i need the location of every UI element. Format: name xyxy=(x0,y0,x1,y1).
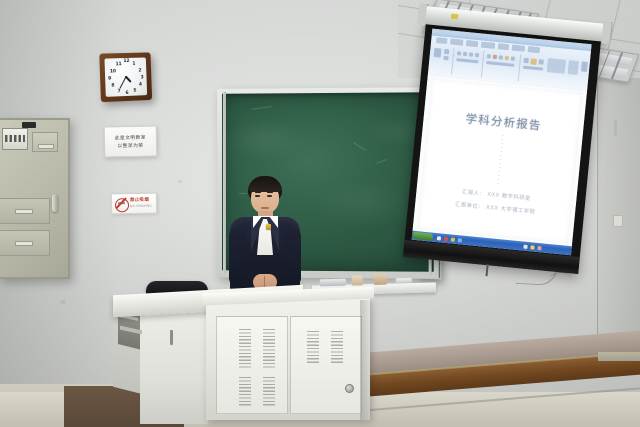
chalk-box[interactable] xyxy=(374,274,387,285)
desk-door-handle[interactable] xyxy=(170,330,173,345)
framed-wall-sign: 此是文明教室 以整潔为荣 xyxy=(104,125,158,157)
taskbar-icon[interactable] xyxy=(444,236,448,240)
eye xyxy=(255,195,260,197)
panel-sub-door[interactable] xyxy=(32,132,58,152)
side-desk[interactable] xyxy=(140,306,208,424)
panel-label xyxy=(15,209,33,214)
chalk-eraser[interactable] xyxy=(320,279,346,287)
arm xyxy=(284,228,301,286)
ventilation-slots xyxy=(239,329,251,369)
hand-crease xyxy=(264,276,265,287)
start-button[interactable] xyxy=(413,232,434,241)
lectern-shadow xyxy=(360,300,374,420)
electric-meter-window xyxy=(2,128,28,150)
slide-canvas: 学科分析报告 汇报人： XXX 教学科研室 汇报单位： XXX 大学理工学院 xyxy=(413,75,587,246)
slide-title: 学科分析报告 xyxy=(427,107,580,138)
panel-breaker-row[interactable] xyxy=(0,198,50,224)
system-tray-icon[interactable] xyxy=(537,245,541,249)
clock-face: 12 1 2 3 4 5 6 7 8 9 10 11 xyxy=(104,57,147,96)
classroom-photo: 学科分析报告 汇报人： XXX 教学科研室 汇报单位： XXX 大学理工学院 xyxy=(0,0,640,427)
taskbar-icon[interactable] xyxy=(437,236,441,240)
shirt-collar xyxy=(253,216,262,228)
meter-digits xyxy=(5,135,25,142)
ventilation-slots xyxy=(263,329,275,369)
taskbar-icon[interactable] xyxy=(451,237,455,241)
wall-scuff xyxy=(614,120,617,136)
slide-content: 学科分析报告 汇报人： XXX 教学科研室 汇报单位： XXX 大学理工学院 xyxy=(417,78,583,244)
chalk-eraser[interactable] xyxy=(396,278,412,283)
lectern-door-left[interactable] xyxy=(216,316,288,414)
no-smoking-text: 禁止吸烟 xyxy=(130,197,149,203)
panel-label xyxy=(15,241,33,246)
clock-minute-hand xyxy=(119,77,126,89)
eye xyxy=(267,195,272,197)
lectern-door-right[interactable] xyxy=(290,316,362,414)
no-smoking-subtext: NO SMOKING xyxy=(130,203,152,207)
wall-socket[interactable] xyxy=(613,215,623,227)
electrical-distribution-panel[interactable] xyxy=(0,118,70,279)
panel-breaker-row[interactable] xyxy=(0,230,50,256)
ventilation-slots xyxy=(307,331,319,365)
panel-door-handle[interactable] xyxy=(52,194,58,212)
wall-clock: 12 1 2 3 4 5 6 7 8 9 10 11 xyxy=(99,52,152,102)
arm xyxy=(229,228,246,286)
system-tray-icon[interactable] xyxy=(530,245,534,249)
housing-indicator xyxy=(451,14,458,20)
hair-fringe xyxy=(249,180,281,192)
system-tray-icon[interactable] xyxy=(523,244,527,248)
panel-label xyxy=(38,144,54,149)
wall-scuff xyxy=(60,300,66,304)
wall-scuff xyxy=(178,180,182,183)
lectern-lock[interactable] xyxy=(345,384,354,393)
slide-divider xyxy=(497,135,503,187)
ventilation-slots xyxy=(331,331,343,365)
projected-slide: 学科分析报告 汇报人： XXX 教学科研室 汇报单位： XXX 大学理工学院 xyxy=(412,29,592,256)
chalk-box[interactable] xyxy=(352,275,363,285)
mouth xyxy=(261,207,269,209)
lapel-badge xyxy=(266,224,271,230)
no-smoking-sign: 禁止吸烟 NO SMOKING xyxy=(111,193,157,215)
taskbar-icon[interactable] xyxy=(458,238,462,242)
projector-screen[interactable]: 学科分析报告 汇报人： XXX 教学科研室 汇报单位： XXX 大学理工学院 xyxy=(403,22,601,274)
sign-line-2: 以整潔为荣 xyxy=(118,142,144,149)
lectern-podium[interactable] xyxy=(206,298,370,420)
sign-line-1: 此是文明教室 xyxy=(115,134,146,141)
ventilation-slots xyxy=(239,377,251,407)
ventilation-slots xyxy=(263,377,275,407)
